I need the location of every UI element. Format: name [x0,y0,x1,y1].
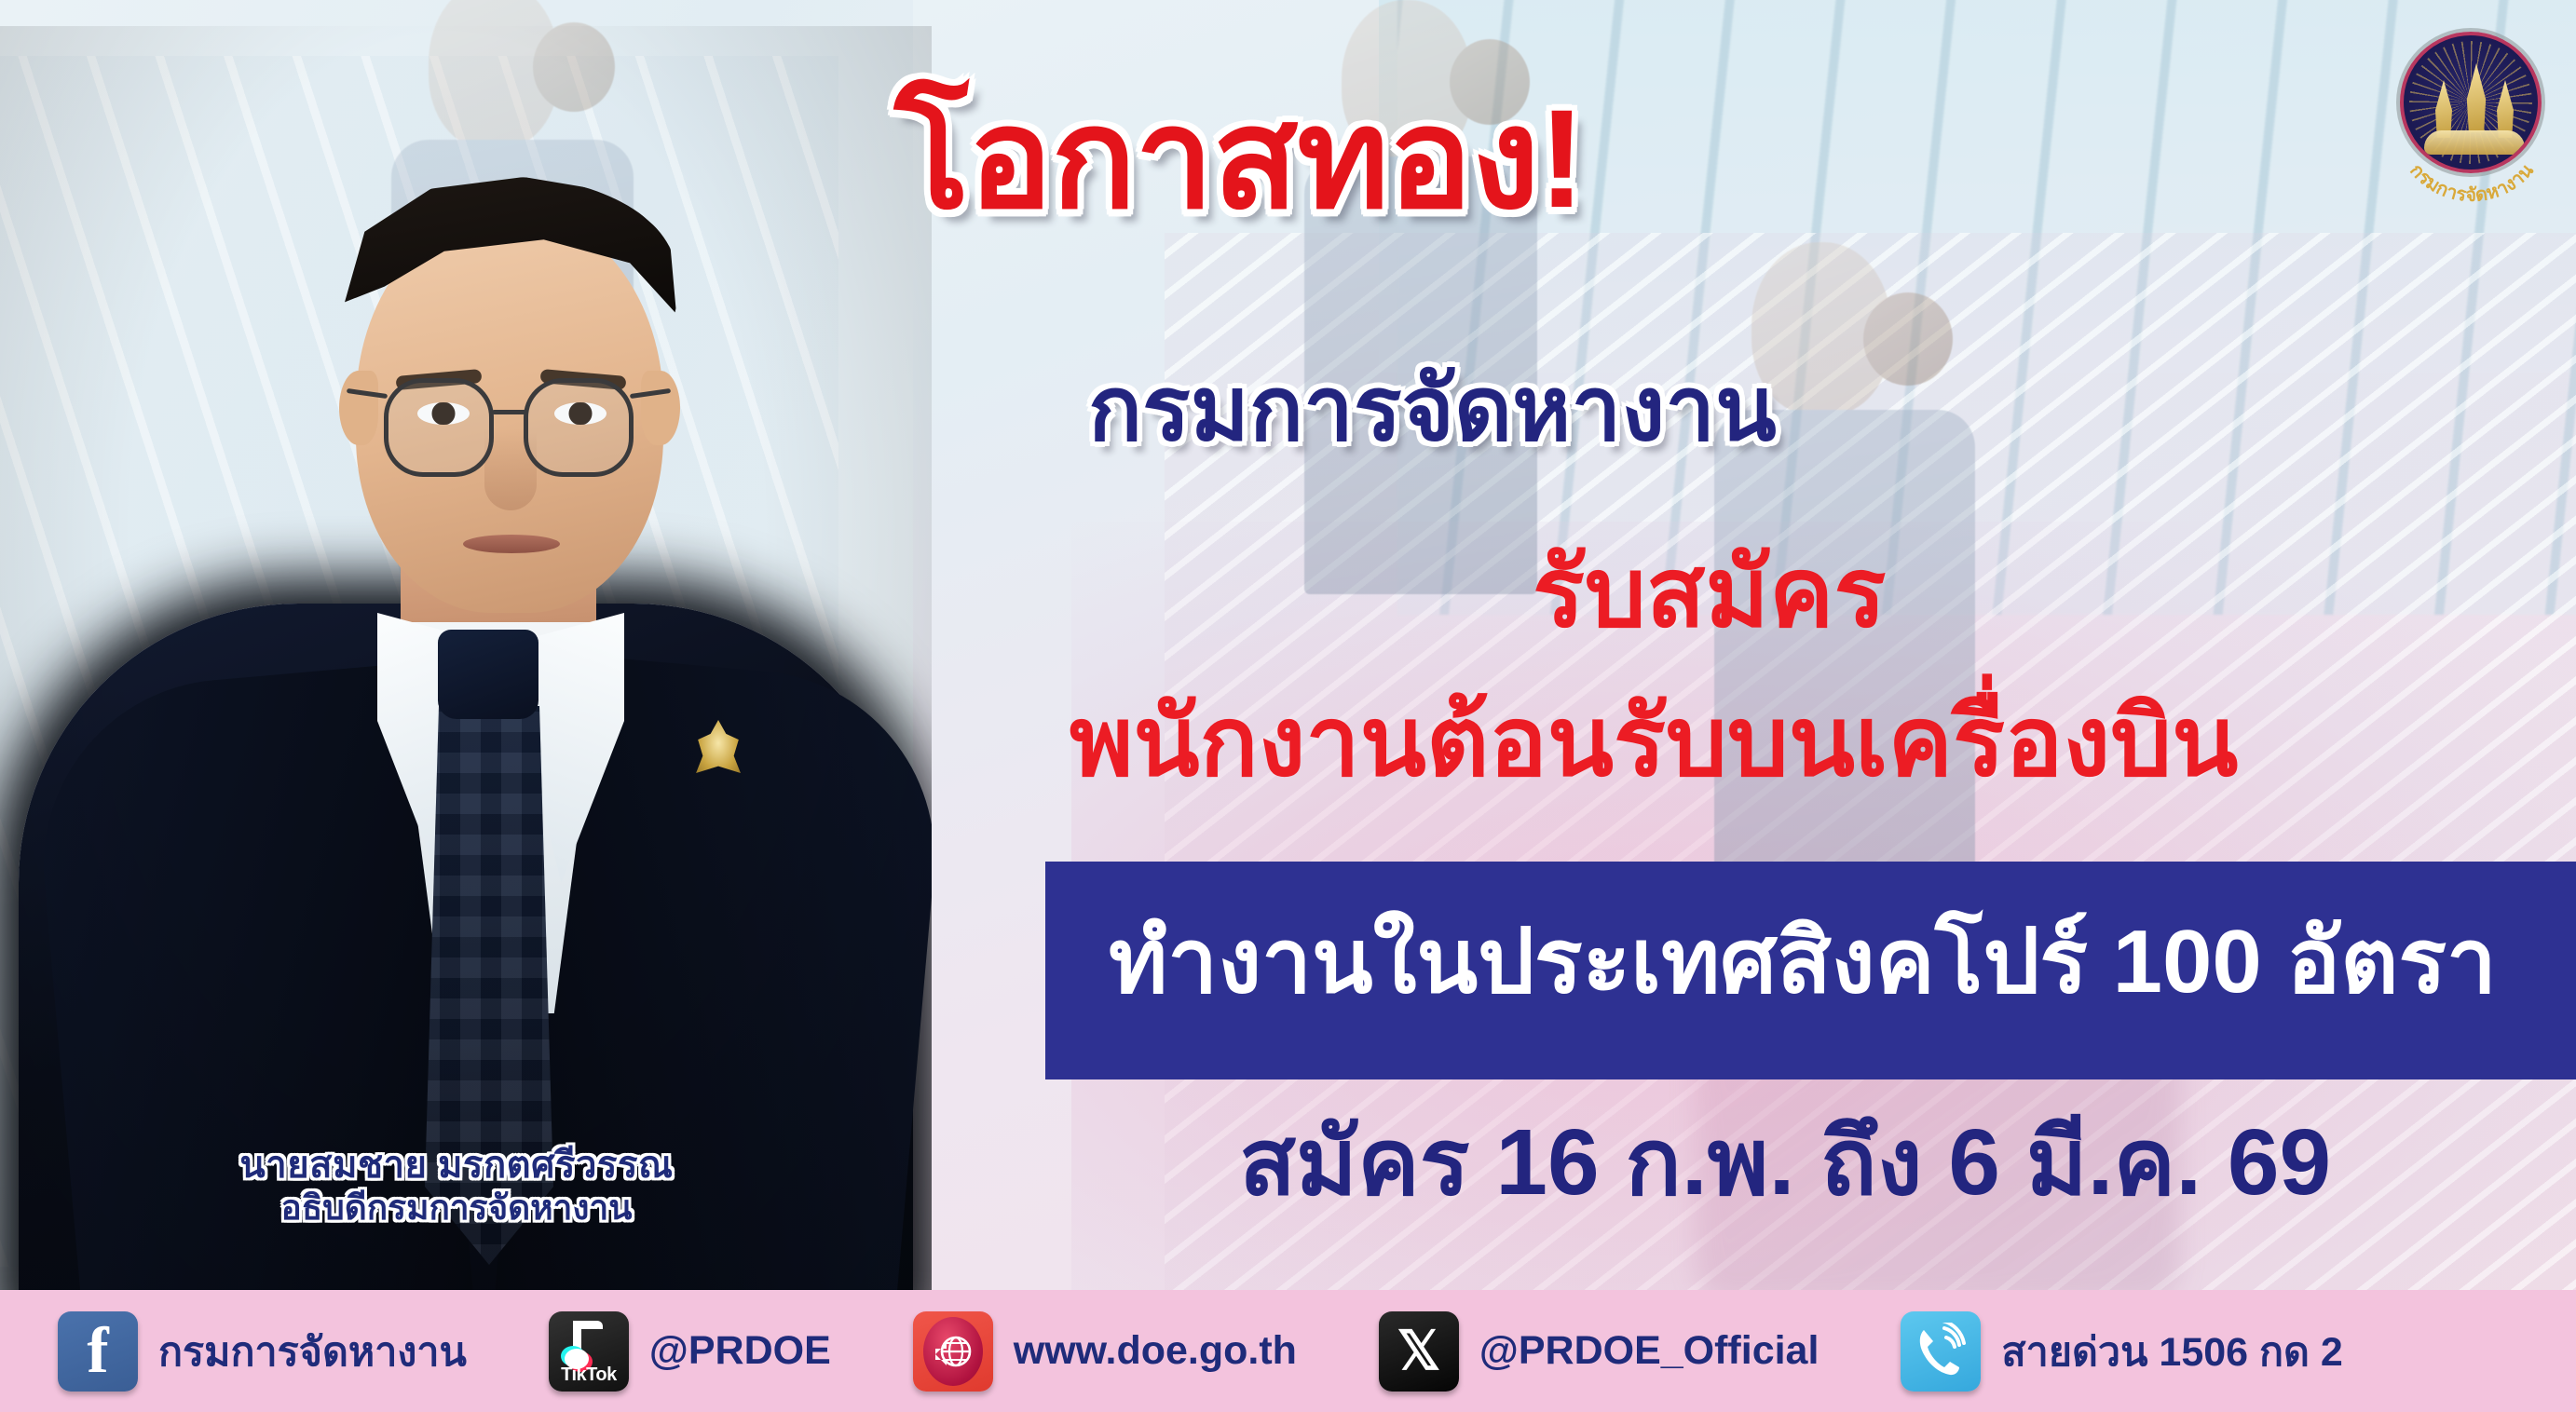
svg-text:กรมการจัดหางาน: กรมการจัดหางาน [2406,160,2538,206]
facebook-label: กรมการจัดหางาน [158,1320,467,1383]
headline-work-location: ทำงานในประเทศสิงคโปร์ 100 อัตรา [1109,917,2497,1007]
footer-item-website[interactable]: www.doe.go.th [913,1290,1297,1412]
director-caption: นายสมชาย มรกตศรีวรรณ อธิบดีกรมการจัดหางา… [102,1144,811,1229]
tiktok-icon[interactable]: TikTok [549,1311,629,1392]
footer-item-facebook[interactable]: f กรมการจัดหางาน [58,1290,467,1412]
tiktok-label: @PRDOE [649,1328,831,1374]
emblem-caption-text: กรมการจัดหางาน [2406,160,2538,206]
website-label: www.doe.go.th [1014,1328,1297,1374]
emblem-caption-arc: กรมการจัดหางาน [2392,136,2551,197]
headline-golden-opportunity: โอกาสทอง! [894,88,1584,228]
phone-icon[interactable] [1901,1311,1981,1392]
headline-recruit: รับสมัคร [1533,545,1886,642]
x-glyph: 𝕏 [1379,1311,1459,1392]
job-announcement-banner: นายสมชาย มรกตศรีวรรณ อธิบดีกรมการจัดหางา… [0,0,2576,1412]
facebook-icon[interactable]: f [58,1311,138,1392]
x-label: @PRDOE_Official [1479,1328,1820,1374]
hotline-label: สายด่วน 1506 กด 2 [2001,1320,2342,1383]
department-emblem: กรมการจัดหางาน [2392,26,2551,199]
tiktok-icon-text: TikTok [549,1364,629,1386]
headline-application-dates: สมัคร 16 ก.พ. ถึง 6 มี.ค. 69 [1239,1116,2331,1209]
footer-item-x[interactable]: 𝕏 @PRDOE_Official [1379,1290,1820,1412]
contact-footer-bar: f กรมการจัดหางาน TikTok @PRDOE [0,1290,2576,1412]
headline-job-position: พนักงานต้อนรับบนเครื่องบิน [1070,694,2238,791]
footer-item-tiktok[interactable]: TikTok @PRDOE [549,1290,831,1412]
footer-item-hotline[interactable]: สายด่วน 1506 กด 2 [1901,1290,2342,1412]
director-role: อธิบดีกรมการจัดหางาน [102,1188,811,1229]
headline-department-name: กรมการจัดหางาน [1088,365,1777,455]
x-twitter-icon[interactable]: 𝕏 [1379,1311,1459,1392]
globe-icon[interactable] [913,1311,993,1392]
headline-group: โอกาสทอง! กรมการจัดหางาน รับสมัคร พนักงา… [0,0,2576,1290]
director-name: นายสมชาย มรกตศรีวรรณ [102,1144,811,1188]
